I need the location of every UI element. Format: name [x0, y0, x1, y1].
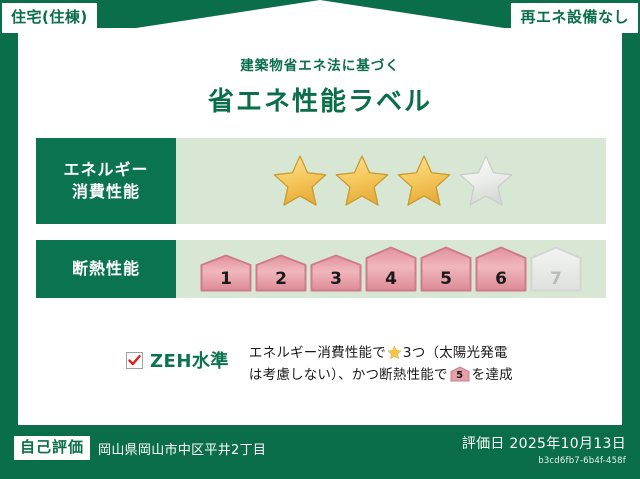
star-empty-icon: [457, 153, 515, 209]
grade-badge-3: 3: [310, 254, 362, 292]
renewable-energy-badge: 再エネ設備なし: [511, 3, 638, 33]
zeh-checkbox[interactable]: [126, 352, 143, 369]
zeh-desc-text-c: は考慮しない）、かつ断熱性能で: [249, 367, 448, 383]
insulation-performance-value: 1234567: [176, 240, 606, 298]
star-filled-icon: [395, 153, 453, 209]
evaluation-date: 評価日 2025年10月13日: [462, 433, 626, 453]
zeh-description: エネルギー消費性能で3つ（太陽光発電 は考慮しない）、かつ断熱性能で5を達成: [249, 342, 513, 387]
grade-value: 6: [475, 271, 527, 288]
zeh-description-line2: は考慮しない）、かつ断熱性能で5を達成: [249, 364, 513, 386]
self-evaluation-badge: 自己評価: [14, 436, 90, 460]
star-filled-icon: [271, 153, 329, 209]
zeh-description-line1: エネルギー消費性能で3つ（太陽光発電: [249, 342, 513, 364]
energy-label-line1: エネルギー: [63, 159, 148, 181]
grade-value: 4: [365, 271, 417, 288]
grade-scale: 1234567: [200, 246, 582, 292]
grade-badge-4: 4: [365, 246, 417, 292]
inline-grade-badge: 5: [450, 366, 470, 382]
grade-badge-5: 5: [420, 246, 472, 292]
zeh-title: ZEH水準: [150, 347, 229, 373]
grade-badge-6: 6: [475, 246, 527, 292]
grade-value: 1: [200, 271, 252, 288]
footer-right: 評価日 2025年10月13日 b3cd6fb7-6b4f-458f: [462, 433, 626, 466]
grade-badge-1: 1: [200, 254, 252, 292]
insulation-performance-label: 断熱性能: [36, 240, 176, 298]
zeh-desc-text-d: を達成: [472, 367, 513, 383]
energy-performance-label: エネルギー 消費性能: [36, 138, 176, 224]
grade-value: 3: [310, 271, 362, 288]
evaluation-id: b3cd6fb7-6b4f-458f: [462, 456, 626, 466]
zeh-desc-text-b: 3つ（太陽光発電: [403, 345, 508, 361]
building-type-badge: 住宅(住棟): [2, 3, 97, 33]
grade-badge-2: 2: [255, 254, 307, 292]
grade-value: 5: [420, 271, 472, 288]
label-title: 省エネ性能ラベル: [0, 81, 640, 118]
zeh-section: ZEH水準 エネルギー消費性能で3つ（太陽光発電 は考慮しない）、かつ断熱性能で…: [36, 342, 606, 387]
energy-performance-row: エネルギー 消費性能: [36, 138, 606, 224]
zeh-status: ZEH水準: [36, 342, 229, 373]
energy-performance-label: 住宅(住棟) 再エネ設備なし 建築物省エネ法に基づく 省エネ性能ラベル エネルギ…: [0, 0, 640, 479]
label-subtitle: 建築物省エネ法に基づく: [0, 54, 640, 74]
zeh-desc-text-a: エネルギー消費性能で: [249, 345, 386, 361]
grade-value: 7: [530, 271, 582, 288]
property-address: 岡山県岡山市中区平井2丁目: [98, 439, 266, 458]
inline-star-icon: [387, 345, 402, 360]
inline-grade-value: 5: [450, 371, 470, 381]
title-block: 建築物省エネ法に基づく 省エネ性能ラベル: [0, 54, 640, 118]
insulation-performance-row: 断熱性能 1234567: [36, 240, 606, 298]
star-rating: [267, 153, 515, 209]
grade-badge-7: 7: [530, 246, 582, 292]
footer-bar: 自己評価 岡山県岡山市中区平井2丁目 評価日 2025年10月13日 b3cd6…: [0, 425, 640, 479]
energy-label-line2: 消費性能: [63, 181, 148, 203]
star-filled-icon: [333, 153, 391, 209]
check-icon: [128, 354, 141, 367]
energy-performance-value: [176, 138, 606, 224]
grade-value: 2: [255, 271, 307, 288]
footer-left: 自己評価 岡山県岡山市中区平井2丁目: [14, 436, 266, 460]
